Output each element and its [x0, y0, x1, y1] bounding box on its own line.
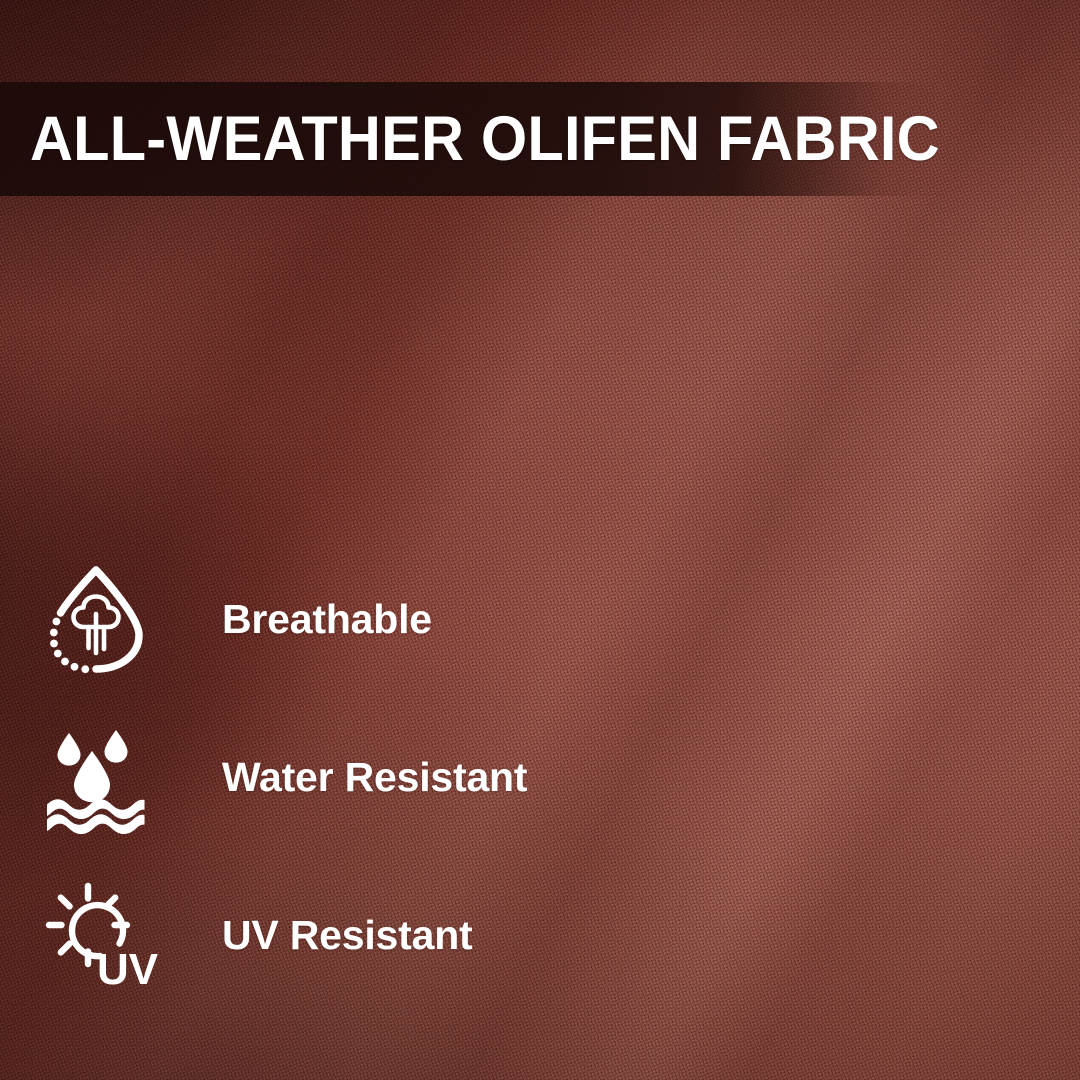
product-feature-graphic: ALL-WEATHER OLIFEN FABRIC [0, 0, 1080, 1080]
breathable-droplet-icon [38, 563, 154, 675]
feature-list: Breathable [0, 540, 1080, 1014]
feature-row-breathable: Breathable [0, 540, 1080, 698]
uv-text: UV [97, 945, 159, 994]
feature-row-water-resistant: Water Resistant [0, 698, 1080, 856]
feature-label-uv-resistant: UV Resistant [222, 912, 473, 959]
sun-uv-icon: UV [38, 880, 154, 990]
feature-row-uv-resistant: UV UV Resistant [0, 856, 1080, 1014]
water-droplets-waves-icon [38, 725, 154, 829]
title-banner: ALL-WEATHER OLIFEN FABRIC [0, 82, 1080, 196]
feature-label-breathable: Breathable [222, 596, 432, 643]
page-title: ALL-WEATHER OLIFEN FABRIC [30, 108, 940, 171]
feature-label-water-resistant: Water Resistant [222, 754, 527, 801]
